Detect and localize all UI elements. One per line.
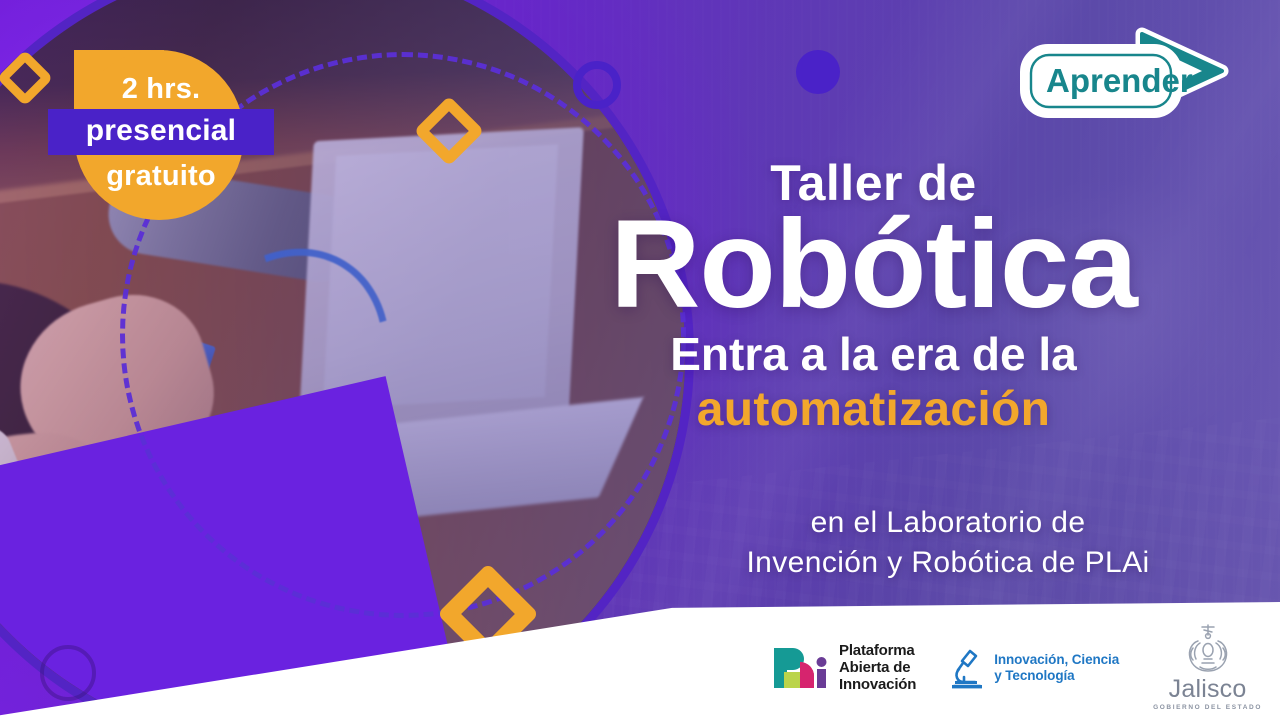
- venue-line-1: en el Laboratorio de: [640, 503, 1256, 543]
- headline-subtitle: Entra a la era de la: [495, 327, 1252, 381]
- venue-line-2: Invención y Robótica de PLAi: [640, 543, 1256, 583]
- faint-ring-decor: [40, 645, 96, 701]
- venue-text: en el Laboratorio de Invención y Robótic…: [640, 503, 1256, 583]
- logo-jalisco[interactable]: Jalisco GOBIERNO DEL ESTADO: [1153, 623, 1262, 712]
- headline-block: Taller de Robótica Entra a la era de la …: [495, 155, 1252, 439]
- badge-text-group: 2 hrs. presencial gratuito: [48, 72, 274, 194]
- plai-line-3: Innovación: [839, 676, 916, 693]
- ict-line-1: Innovación, Ciencia: [994, 652, 1119, 668]
- footer-logos: Plataforma Abierta de Innovación In: [772, 623, 1262, 712]
- aprender-label: Aprender: [1046, 62, 1193, 99]
- filled-dot-decor: [796, 50, 840, 94]
- headline-title: Robótica: [495, 205, 1252, 325]
- ict-label: Innovación, Ciencia y Tecnología: [994, 652, 1119, 684]
- badge-modality: presencial: [48, 109, 274, 155]
- plai-mark-icon: [772, 646, 828, 690]
- jalisco-label: Jalisco: [1169, 676, 1247, 702]
- logo-innovacion-ciencia-tecnologia[interactable]: Innovación, Ciencia y Tecnología: [950, 647, 1119, 689]
- jalisco-coat-of-arms-icon: [1180, 623, 1236, 675]
- badge-duration: 2 hrs.: [48, 72, 274, 106]
- circle-outline-decor: [573, 61, 621, 109]
- logo-plai[interactable]: Plataforma Abierta de Innovación: [772, 642, 916, 693]
- microscope-icon: [950, 647, 984, 689]
- plai-label: Plataforma Abierta de Innovación: [839, 642, 916, 693]
- plai-line-1: Plataforma: [839, 642, 916, 659]
- aprender-logo[interactable]: Aprender: [1016, 24, 1236, 124]
- jalisco-sublabel: GOBIERNO DEL ESTADO: [1153, 703, 1262, 712]
- promo-banner: 2 hrs. presencial gratuito Aprender Tall…: [0, 0, 1280, 720]
- plai-line-2: Abierta de: [839, 659, 916, 676]
- badge-price: gratuito: [48, 158, 274, 194]
- headline-accent: automatización: [495, 381, 1252, 439]
- ict-line-2: y Tecnología: [994, 668, 1119, 684]
